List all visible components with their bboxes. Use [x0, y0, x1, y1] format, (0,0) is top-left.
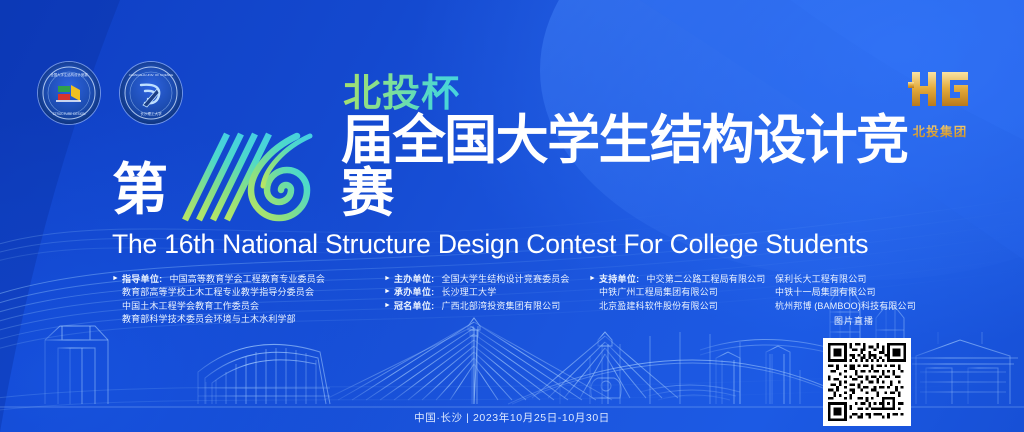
org-line: ► 主办单位: 全国大学生结构设计竞赛委员会	[384, 272, 589, 285]
svg-text:STRUCTURE DESIGN: STRUCTURE DESIGN	[53, 112, 86, 116]
cup-name: 北投杯	[341, 73, 460, 115]
svg-text:全国大学生结构设计竞赛: 全国大学生结构设计竞赛	[50, 72, 88, 77]
org-value: 中铁十一局集团有限公司	[775, 285, 876, 298]
event-date-location: 中国·长沙 | 2023年10月25日-10月30日	[0, 410, 1024, 425]
org-column-hosts: ► 主办单位: 全国大学生结构设计竞赛委员会 ► 承办单位: 长沙理工大学 ► …	[384, 272, 589, 327]
org-value: 北京盈建科软件股份有限公司	[599, 299, 718, 312]
title-main-cn: 届全国大学生结构设计竞赛	[341, 114, 952, 220]
org-value: 中铁广州工程局集团有限公司	[599, 285, 718, 298]
org-value: 保利长大工程有限公司	[775, 272, 867, 285]
svg-text:长沙理工大学: 长沙理工大学	[140, 111, 162, 116]
triangle-bullet-icon: ►	[112, 272, 119, 285]
org-value: 杭州邦博 (BAMBOO)科技有限公司	[775, 299, 916, 312]
org-line: ► 北京盈建科软件股份有限公司	[589, 299, 773, 312]
triangle-bullet-icon: ►	[384, 299, 391, 312]
livestream-label: 图片直播	[773, 314, 941, 327]
org-value: 中国土木工程学会教育工作委员会	[122, 299, 259, 312]
triangle-bullet-icon: ►	[384, 272, 391, 285]
org-value: 教育部高等学校土木工程专业教学指导分委员会	[122, 285, 314, 298]
org-value: 教育部科学技术委员会环境与土木水利学部	[122, 312, 296, 325]
org-value: 长沙理工大学	[441, 285, 496, 298]
org-line: ► 教育部科学技术委员会环境与土木水利学部	[112, 312, 384, 325]
org-line: ► 指导单位: 中国高等教育学会工程教育专业委员会	[112, 272, 384, 285]
svg-text:CHANGSHA UNIV. OF SCIENCE: CHANGSHA UNIV. OF SCIENCE	[129, 73, 174, 77]
title-subtitle-en: The 16th National Structure Design Conte…	[112, 229, 952, 260]
org-column-supporters-cont: 保利长大工程有限公司 中铁十一局集团有限公司 杭州邦博 (BAMBOO)科技有限…	[773, 272, 941, 327]
org-line: 保利长大工程有限公司	[773, 272, 941, 285]
edition-number-logo	[171, 128, 337, 220]
national-structure-design-contest-emblem: 全国大学生结构设计竞赛 STRUCTURE DESIGN	[38, 62, 100, 124]
org-label: 主办单位:	[394, 272, 435, 285]
org-column-supporters: ► 支持单位: 中交第二公路工程局有限公司 ► 中铁广州工程局集团有限公司 ► …	[589, 272, 773, 327]
org-line: ► 支持单位: 中交第二公路工程局有限公司	[589, 272, 773, 285]
org-line: ► 中国土木工程学会教育工作委员会	[112, 299, 384, 312]
title-prefix: 第	[112, 162, 167, 220]
changsha-university-of-science-technology-emblem: CHANGSHA UNIV. OF SCIENCE 长沙理工大学	[120, 62, 182, 124]
org-label: 承办单位:	[394, 285, 435, 298]
organization-credits: ► 指导单位: 中国高等教育学会工程教育专业委员会 ► 教育部高等学校土木工程专…	[112, 272, 942, 327]
org-value: 全国大学生结构设计竞赛委员会	[441, 272, 569, 285]
triangle-bullet-icon: ►	[384, 285, 391, 298]
org-label: 冠名单位:	[394, 299, 435, 312]
org-value: 中国高等教育学会工程教育专业委员会	[169, 272, 325, 285]
org-line: ► 承办单位: 长沙理工大学	[384, 285, 589, 298]
triangle-bullet-icon: ►	[589, 272, 596, 285]
org-line: ► 教育部高等学校土木工程专业教学指导分委员会	[112, 285, 384, 298]
org-line: ► 中铁广州工程局集团有限公司	[589, 285, 773, 298]
org-label: 指导单位:	[122, 272, 163, 285]
institution-logos: 全国大学生结构设计竞赛 STRUCTURE DESIGN CHANGSHA UN…	[38, 62, 182, 124]
org-label: 支持单位:	[599, 272, 640, 285]
org-line: 杭州邦博 (BAMBOO)科技有限公司	[773, 299, 941, 312]
title-block: 第	[112, 128, 952, 260]
org-line: ► 冠名单位: 广西北部湾投资集团有限公司	[384, 299, 589, 312]
org-column-guidance: ► 指导单位: 中国高等教育学会工程教育专业委员会 ► 教育部高等学校土木工程专…	[112, 272, 384, 327]
org-value: 中交第二公路工程局有限公司	[646, 272, 765, 285]
org-value: 广西北部湾投资集团有限公司	[441, 299, 560, 312]
event-banner: 全国大学生结构设计竞赛 STRUCTURE DESIGN CHANGSHA UN…	[0, 0, 1024, 432]
org-line: 中铁十一局集团有限公司	[773, 285, 941, 298]
